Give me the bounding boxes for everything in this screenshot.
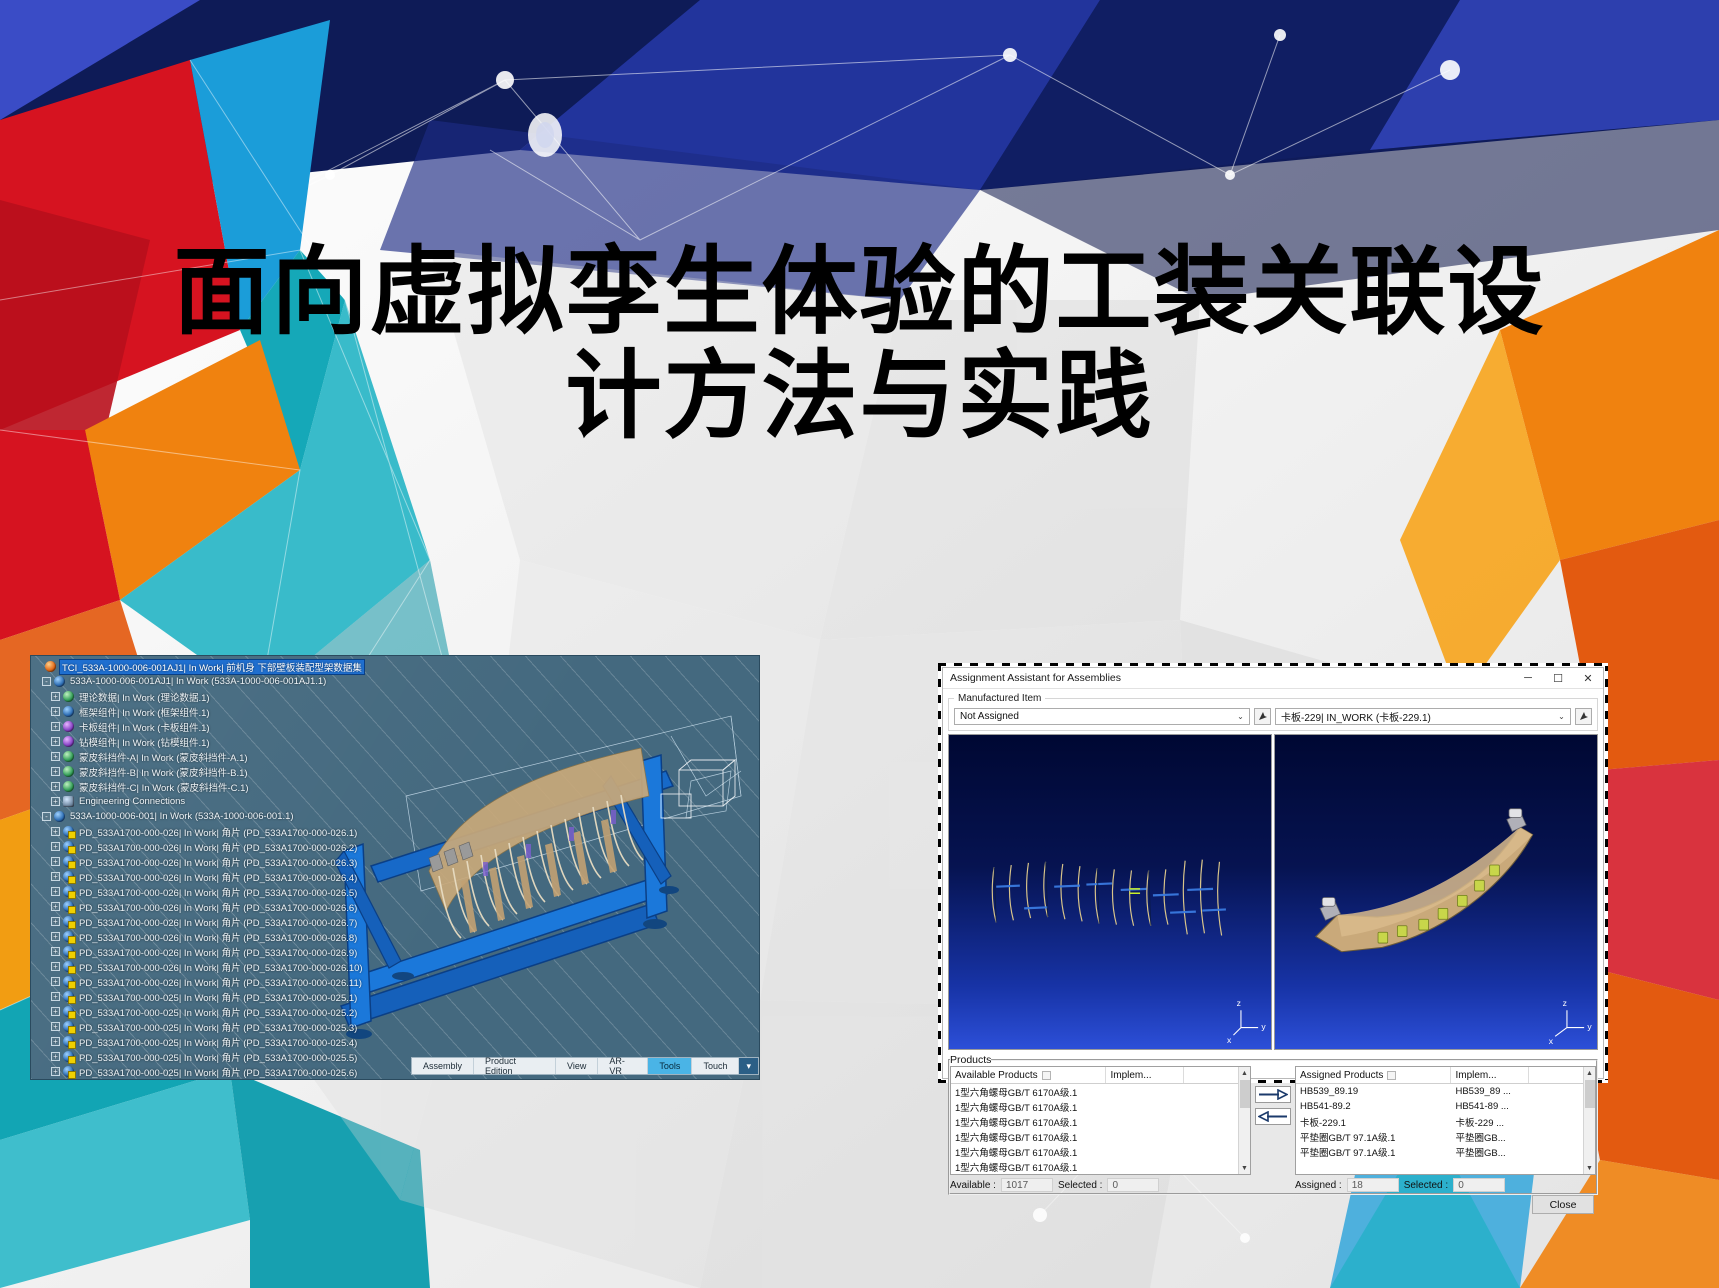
pick-target-icon-right[interactable] [1575, 708, 1592, 725]
expand-icon[interactable]: + [51, 1037, 60, 1046]
available-products-col-impl[interactable]: Implem... [1106, 1067, 1184, 1083]
assigned-products-col-name[interactable]: Assigned Products [1296, 1067, 1451, 1083]
assigned-products-column: Assigned Products Implem... HB539_89.19H… [1295, 1066, 1596, 1193]
tree-item-label: PD_533A1700-000-026| In Work| 角片 (PD_533… [78, 855, 358, 869]
tree-item-label: 框架组件| In Work (框架组件.1) [78, 705, 211, 719]
engineering-connections-icon [63, 796, 74, 807]
expand-icon[interactable]: + [51, 1052, 60, 1061]
tree-item-label: 蒙皮斜挡件-C| In Work (蒙皮斜挡件-C.1) [78, 780, 250, 794]
available-products-list[interactable]: Available Products Implem... 1型六角螺母GB/T … [950, 1066, 1251, 1175]
available-products-col-name-text: Available Products [955, 1070, 1038, 1081]
assigned-products-header[interactable]: Assigned Products Implem... [1296, 1067, 1595, 1084]
list-item[interactable]: 1型六角螺母GB/T 6170A级.1 [951, 1084, 1250, 1099]
available-count-label: Available : [950, 1180, 996, 1191]
part-instance-icon [63, 856, 74, 867]
tree-item-label: Engineering Connections [78, 796, 186, 807]
part-instance-icon [63, 916, 74, 927]
assignment-assistant-dialog-wrapper: Assignment Assistant for Assemblies ─ ☐ … [938, 663, 1608, 1083]
tree-item[interactable]: +框架组件| In Work (框架组件.1) [33, 704, 331, 719]
tree-item-label: PD_533A1700-000-026| In Work| 角片 (PD_533… [78, 870, 358, 884]
list-item-impl [1106, 1144, 1184, 1159]
list-item[interactable]: 卡板-229.1卡板-229 ... [1296, 1114, 1595, 1129]
tree-item[interactable]: +理论数据| In Work (理论数据.1) [33, 689, 331, 704]
svg-text:x: x [1227, 1035, 1232, 1045]
expand-icon[interactable]: + [51, 962, 60, 971]
tree-item-label: PD_533A1700-000-026| In Work| 角片 (PD_533… [78, 930, 358, 944]
minimize-button[interactable]: ─ [1513, 668, 1543, 688]
expand-icon[interactable]: + [51, 767, 60, 776]
chevron-down-icon-2[interactable]: ⌄ [1555, 712, 1568, 721]
tree-item[interactable]: +PD_533A1700-000-025| In Work| 角片 (PD_53… [33, 1049, 331, 1064]
tree-item[interactable]: +卡板组件| In Work (卡板组件.1) [33, 719, 331, 734]
part-instance-icon [63, 1051, 74, 1062]
expand-icon[interactable]: + [51, 842, 60, 851]
expand-icon[interactable]: + [51, 857, 60, 866]
list-item[interactable]: 平垫圈GB/T 97.1A级.1平垫圈GB... [1296, 1144, 1595, 1159]
preview-viewports: z y x [948, 734, 1598, 1050]
green-product-icon [63, 751, 74, 762]
viewport-right-part[interactable]: z y x [1274, 734, 1598, 1050]
manufactured-item-right-combo[interactable]: 卡板-229| IN_WORK (卡板-229.1) ⌄ [1275, 708, 1571, 725]
cad-tab-assembly[interactable]: Assembly [412, 1058, 474, 1074]
available-counts: Available : 1017 Selected : 0 [950, 1177, 1251, 1193]
list-item[interactable]: 1型六角螺母GB/T 6170A级.1 [951, 1159, 1250, 1174]
svg-text:x: x [1549, 1036, 1554, 1046]
list-item-impl: 平垫圈GB... [1451, 1144, 1529, 1159]
part-instance-icon [63, 961, 74, 972]
expand-icon[interactable]: + [51, 782, 60, 791]
expand-icon[interactable]: + [51, 992, 60, 1001]
list-item[interactable]: 1型六角螺母GB/T 6170A级.1 [951, 1129, 1250, 1144]
tree-item[interactable]: -533A-1000-006-001| In Work (533A-1000-0… [33, 809, 331, 824]
close-icon[interactable]: ✕ [1573, 668, 1603, 688]
product-icon [54, 811, 65, 822]
tree-item[interactable]: +钻模组件| In Work (钻模组件.1) [33, 734, 331, 749]
filter-icon[interactable] [1042, 1071, 1051, 1080]
list-item[interactable]: 1型六角螺母GB/T 6170A级.1 [951, 1144, 1250, 1159]
list-item[interactable]: 1型六角螺母GB/T 6170A级.1 [951, 1114, 1250, 1129]
products-legend: Products [950, 1054, 991, 1066]
expand-icon[interactable]: + [51, 722, 60, 731]
tree-item-label: PD_533A1700-000-026| In Work| 角片 (PD_533… [78, 960, 364, 974]
expand-icon[interactable]: + [51, 1067, 60, 1076]
list-item-name: 平垫圈GB/T 97.1A级.1 [1296, 1129, 1451, 1144]
part-instance-icon [63, 871, 74, 882]
part-instance-icon [63, 931, 74, 942]
products-body: Available Products Implem... 1型六角螺母GB/T … [950, 1066, 1596, 1193]
tree-item[interactable]: +PD_533A1700-000-025| In Work| 角片 (PD_53… [33, 1019, 331, 1034]
list-item-impl: HB539_89 ... [1451, 1084, 1529, 1099]
tree-item-label: PD_533A1700-000-026| In Work| 角片 (PD_533… [78, 885, 358, 899]
available-products-column: Available Products Implem... 1型六角螺母GB/T … [950, 1066, 1251, 1193]
manufactured-item-left-value: Not Assigned [960, 711, 1234, 722]
assigned-selected-label: Selected : [1404, 1180, 1448, 1191]
list-item-impl [1106, 1084, 1184, 1099]
tree-item[interactable]: +PD_533A1700-000-026| In Work| 角片 (PD_53… [33, 899, 331, 914]
list-item-impl [1106, 1129, 1184, 1144]
tree-item[interactable]: +蒙皮斜挡件-C| In Work (蒙皮斜挡件-C.1) [33, 779, 331, 794]
part-instance-icon [63, 901, 74, 912]
list-item-name: 卡板-229.1 [1296, 1114, 1451, 1129]
manufactured-item-right-value: 卡板-229| IN_WORK (卡板-229.1) [1281, 709, 1555, 724]
list-item[interactable]: 1型六角螺母GB/T 6170A级.1 [951, 1099, 1250, 1114]
assigned-products-scrollbar[interactable]: ▲ ▼ [1583, 1067, 1595, 1174]
tree-item-label: PD_533A1700-000-026| In Work| 角片 (PD_533… [78, 825, 358, 839]
available-products-rows[interactable]: 1型六角螺母GB/T 6170A级.11型六角螺母GB/T 6170A级.11型… [951, 1084, 1250, 1174]
tree-item-label: TCI_533A-1000-006-001AJ1| In Work| 前机身 下… [60, 660, 364, 674]
svg-text:z: z [1563, 998, 1567, 1008]
tree-item-label: PD_533A1700-000-026| In Work| 角片 (PD_533… [78, 945, 358, 959]
assigned-products-col-impl[interactable]: Implem... [1451, 1067, 1529, 1083]
scroll-up-icon[interactable]: ▲ [1239, 1067, 1251, 1079]
cad-tab-view[interactable]: View [556, 1058, 598, 1074]
available-products-header[interactable]: Available Products Implem... [951, 1067, 1250, 1084]
dialog-footer: Close [943, 1195, 1603, 1214]
filter-icon-2[interactable] [1387, 1071, 1396, 1080]
cad-tab-ar-vr[interactable]: AR-VR [598, 1058, 648, 1074]
list-item-impl [1106, 1159, 1184, 1174]
close-button[interactable]: Close [1532, 1195, 1594, 1214]
available-products-scrollbar[interactable]: ▲ ▼ [1238, 1067, 1250, 1174]
pick-target-icon-left[interactable] [1254, 708, 1271, 725]
dialog-title-bar[interactable]: Assignment Assistant for Assemblies ─ ☐ … [943, 668, 1603, 689]
tree-item-label: PD_533A1700-000-026| In Work| 角片 (PD_533… [78, 900, 358, 914]
chevron-down-icon-toolbar[interactable]: ▾ [739, 1058, 758, 1074]
part-instance-icon [63, 991, 74, 1002]
tree-item-label: PD_533A1700-000-025| In Work| 角片 (PD_533… [78, 1065, 358, 1079]
list-item-impl [1106, 1114, 1184, 1129]
maximize-button[interactable]: ☐ [1543, 668, 1573, 688]
list-item-impl: HB541-89 ... [1451, 1099, 1529, 1114]
tree-item-label: PD_533A1700-000-025| In Work| 角片 (PD_533… [78, 990, 358, 1004]
tree-item-label: PD_533A1700-000-026| In Work| 角片 (PD_533… [78, 840, 358, 854]
tree-item[interactable]: +PD_533A1700-000-026| In Work| 角片 (PD_53… [33, 944, 331, 959]
list-item-name: 平垫圈GB/T 97.1A级.1 [1296, 1144, 1451, 1159]
tree-item-label: 533A-1000-006-001AJ1| In Work (533A-1000… [69, 676, 327, 687]
scroll-down-icon[interactable]: ▼ [1239, 1162, 1251, 1174]
product-icon [54, 676, 65, 687]
svg-text:y: y [1587, 1022, 1592, 1032]
assigned-count-value: 18 [1347, 1178, 1399, 1192]
tree-item[interactable]: +PD_533A1700-000-026| In Work| 角片 (PD_53… [33, 869, 331, 884]
list-item[interactable]: HB541-89.2HB541-89 ... [1296, 1099, 1595, 1114]
product-icon [63, 706, 74, 717]
red-sphere-icon [45, 661, 56, 672]
tree-item-label: PD_533A1700-000-025| In Work| 角片 (PD_533… [78, 1050, 358, 1064]
expand-icon[interactable]: + [51, 917, 60, 926]
expand-icon[interactable]: + [51, 692, 60, 701]
available-selected-value: 0 [1107, 1178, 1159, 1192]
assigned-counts: Assigned : 18 Selected : 0 [1295, 1177, 1596, 1193]
tree-item[interactable]: +PD_533A1700-000-026| In Work| 角片 (PD_53… [33, 929, 331, 944]
expand-icon[interactable]: + [51, 872, 60, 881]
tree-item[interactable]: +PD_533A1700-000-026| In Work| 角片 (PD_53… [33, 914, 331, 929]
tree-item-label: 533A-1000-006-001| In Work (533A-1000-00… [69, 811, 295, 822]
collapse-icon[interactable]: - [42, 677, 51, 686]
svg-text:y: y [1261, 1022, 1266, 1032]
tree-item[interactable]: +PD_533A1700-000-026| In Work| 角片 (PD_53… [33, 884, 331, 899]
green-product-icon [63, 781, 74, 792]
list-item[interactable]: HB539_89.19HB539_89 ... [1296, 1084, 1595, 1099]
tree-item[interactable]: +PD_533A1700-000-026| In Work| 角片 (PD_53… [33, 959, 331, 974]
cad-tab-product-edition[interactable]: Product Edition [474, 1058, 556, 1074]
tree-item-label: PD_533A1700-000-026| In Work| 角片 (PD_533… [78, 915, 358, 929]
available-products-col-name[interactable]: Available Products [951, 1067, 1106, 1083]
expand-icon[interactable]: + [51, 977, 60, 986]
green-product-icon [63, 691, 74, 702]
tree-item[interactable]: +PD_533A1700-000-026| In Work| 角片 (PD_53… [33, 854, 331, 869]
expand-icon[interactable]: + [51, 827, 60, 836]
list-item-name: HB539_89.19 [1296, 1084, 1451, 1099]
list-item[interactable]: 平垫圈GB/T 97.1A级.1平垫圈GB... [1296, 1129, 1595, 1144]
tree-item[interactable]: +PD_533A1700-000-025| In Work| 角片 (PD_53… [33, 989, 331, 1004]
list-item-impl: 平垫圈GB... [1451, 1129, 1529, 1144]
purple-product-icon [63, 736, 74, 747]
scroll-up-icon-2[interactable]: ▲ [1584, 1067, 1596, 1079]
collapse-icon[interactable]: - [42, 812, 51, 821]
list-item-name: 1型六角螺母GB/T 6170A级.1 [951, 1114, 1106, 1129]
tree-item[interactable]: +PD_533A1700-000-026| In Work| 角片 (PD_53… [33, 839, 331, 854]
dialog-title-text: Assignment Assistant for Assemblies [950, 672, 1513, 684]
tree-item-label: 蒙皮斜挡件-A| In Work (蒙皮斜挡件-A.1) [78, 750, 249, 764]
expand-icon[interactable]: + [51, 947, 60, 956]
part-instance-icon [63, 886, 74, 897]
list-item-name: 1型六角螺母GB/T 6170A级.1 [951, 1084, 1106, 1099]
available-count-value: 1017 [1001, 1178, 1053, 1192]
expand-icon[interactable]: + [51, 752, 60, 761]
tree-item-label: 理论数据| In Work (理论数据.1) [78, 690, 211, 704]
assigned-count-label: Assigned : [1295, 1180, 1342, 1191]
expand-icon[interactable]: + [51, 902, 60, 911]
list-item-name: 1型六角螺母GB/T 6170A级.1 [951, 1144, 1106, 1159]
list-item-name: 1型六角螺母GB/T 6170A级.1 [951, 1129, 1106, 1144]
part-instance-icon [63, 1021, 74, 1032]
cad-application-window[interactable]: TCI_533A-1000-006-001AJ1| In Work| 前机身 下… [30, 655, 760, 1080]
svg-text:z: z [1237, 998, 1241, 1008]
tree-item[interactable]: TCI_533A-1000-006-001AJ1| In Work| 前机身 下… [33, 659, 331, 674]
tree-item-label: 蒙皮斜挡件-B| In Work (蒙皮斜挡件-B.1) [78, 765, 249, 779]
list-item-impl [1106, 1099, 1184, 1114]
scroll-thumb-2[interactable] [1585, 1080, 1595, 1108]
tree-item[interactable]: +PD_533A1700-000-026| In Work| 角片 (PD_53… [33, 824, 331, 839]
expand-icon[interactable]: + [51, 797, 60, 806]
part-instance-icon [63, 841, 74, 852]
tree-item-label: 卡板组件| In Work (卡板组件.1) [78, 720, 211, 734]
tree-item-label: PD_533A1700-000-025| In Work| 角片 (PD_533… [78, 1005, 358, 1019]
chevron-down-icon[interactable]: ⌄ [1234, 712, 1247, 721]
part-instance-icon [63, 1036, 74, 1047]
tree-item[interactable]: +Engineering Connections [33, 794, 331, 809]
scroll-down-icon-2[interactable]: ▼ [1584, 1162, 1596, 1174]
list-item-name: HB541-89.2 [1296, 1099, 1451, 1114]
purple-product-icon [63, 721, 74, 732]
assembly-fixture-model [311, 676, 760, 1076]
products-group: Products Available Products Implem... [948, 1054, 1598, 1195]
tree-item-label: PD_533A1700-000-026| In Work| 角片 (PD_533… [78, 975, 363, 989]
assigned-products-list[interactable]: Assigned Products Implem... HB539_89.19H… [1295, 1066, 1596, 1175]
arrow-right-icon[interactable] [1255, 1086, 1291, 1103]
expand-icon[interactable]: + [51, 1007, 60, 1016]
tree-item-label: PD_533A1700-000-025| In Work| 角片 (PD_533… [78, 1080, 358, 1081]
part-instance-icon [63, 826, 74, 837]
expand-icon[interactable]: + [51, 887, 60, 896]
tree-item[interactable]: -533A-1000-006-001AJ1| In Work (533A-100… [33, 674, 331, 689]
tree-item-label: PD_533A1700-000-025| In Work| 角片 (PD_533… [78, 1020, 358, 1034]
expand-icon[interactable]: + [51, 707, 60, 716]
tree-item-label: 钻模组件| In Work (钻模组件.1) [78, 735, 211, 749]
assigned-products-rows[interactable]: HB539_89.19HB539_89 ...HB541-89.2HB541-8… [1296, 1084, 1595, 1174]
tree-item[interactable]: +PD_533A1700-000-025| In Work| 角片 (PD_53… [33, 1034, 331, 1049]
viewport-left-assembly[interactable]: z y x [948, 734, 1272, 1050]
arrow-left-icon[interactable] [1255, 1108, 1291, 1125]
expand-icon[interactable]: + [51, 932, 60, 941]
manufactured-item-legend: Manufactured Item [954, 693, 1045, 704]
list-item-name: 1型六角螺母GB/T 6170A级.1 [951, 1099, 1106, 1114]
scroll-thumb[interactable] [1240, 1080, 1250, 1108]
cad-bottom-action-bar[interactable]: AssemblyProduct EditionViewAR-VRToolsTou… [411, 1057, 759, 1075]
expand-icon[interactable]: + [51, 737, 60, 746]
assignment-assistant-dialog[interactable]: Assignment Assistant for Assemblies ─ ☐ … [942, 667, 1604, 1079]
part-instance-icon [63, 946, 74, 957]
list-item-name: 1型六角螺母GB/T 6170A级.1 [951, 1159, 1106, 1174]
cad-tab-touch[interactable]: Touch [692, 1058, 739, 1074]
tree-item[interactable]: +PD_533A1700-000-025| In Work| 角片 (PD_53… [33, 1004, 331, 1019]
transfer-buttons [1254, 1066, 1292, 1193]
assigned-selected-value: 0 [1453, 1178, 1505, 1192]
tree-item[interactable]: +PD_533A1700-000-025| In Work| 角片 (PD_53… [33, 1064, 331, 1079]
part-instance-icon [63, 1006, 74, 1017]
list-item-impl: 卡板-229 ... [1451, 1114, 1529, 1129]
manufactured-item-left-combo[interactable]: Not Assigned ⌄ [954, 708, 1250, 725]
tree-item[interactable]: +蒙皮斜挡件-A| In Work (蒙皮斜挡件-A.1) [33, 749, 331, 764]
expand-icon[interactable]: + [51, 1022, 60, 1031]
part-instance-icon [63, 976, 74, 987]
green-product-icon [63, 766, 74, 777]
specification-tree[interactable]: TCI_533A-1000-006-001AJ1| In Work| 前机身 下… [31, 656, 331, 1079]
manufactured-item-row: Not Assigned ⌄ 卡板-229| IN_WORK (卡板-229.1… [954, 708, 1592, 725]
part-instance-icon [63, 1066, 74, 1077]
cad-tab-tools[interactable]: Tools [648, 1058, 692, 1074]
manufactured-item-group: Manufactured Item Not Assigned ⌄ 卡板-229|… [948, 693, 1598, 731]
tree-item[interactable]: +PD_533A1700-000-026| In Work| 角片 (PD_53… [33, 974, 331, 989]
tree-item-label: PD_533A1700-000-025| In Work| 角片 (PD_533… [78, 1035, 358, 1049]
tree-item[interactable]: +PD_533A1700-000-025| In Work| 角片 (PD_53… [33, 1079, 331, 1080]
assigned-products-col-name-text: Assigned Products [1300, 1070, 1383, 1081]
available-selected-label: Selected : [1058, 1180, 1102, 1191]
tree-item[interactable]: +蒙皮斜挡件-B| In Work (蒙皮斜挡件-B.1) [33, 764, 331, 779]
